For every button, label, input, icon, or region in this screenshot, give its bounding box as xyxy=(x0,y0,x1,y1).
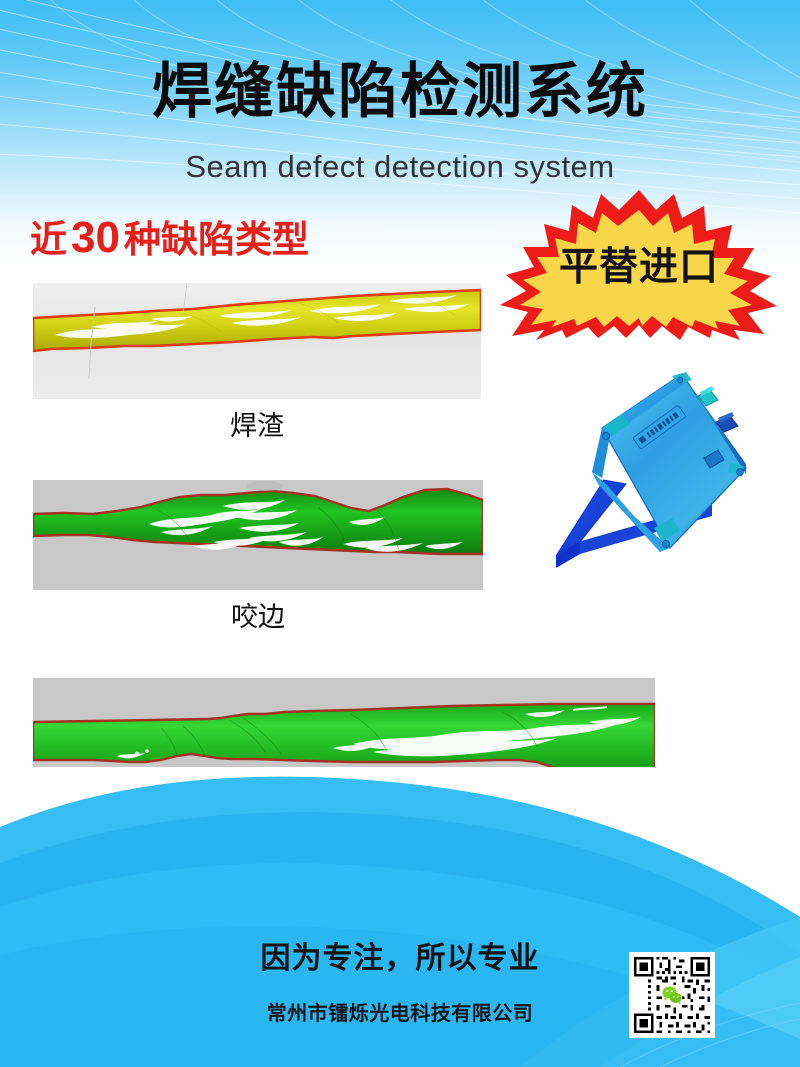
starburst-badge: 平替进口 xyxy=(496,188,782,340)
page-title: 焊缝缺陷检测系统 xyxy=(0,62,800,122)
defect-image-weld-slag xyxy=(33,283,481,399)
page-subtitle: Seam defect detection system xyxy=(0,148,800,185)
defect-caption-undercut: 咬边 xyxy=(33,604,483,631)
poster-canvas: 焊缝缺陷检测系统 Seam defect detection system 近3… xyxy=(0,0,800,1067)
feature-suffix: 种缺陷类型 xyxy=(124,219,309,260)
feature-number: 30 xyxy=(67,213,124,262)
feature-headline: 近30种缺陷类型 xyxy=(30,216,309,260)
defect-image-undercut xyxy=(33,480,483,590)
laser-scanner-device-image xyxy=(494,356,760,606)
feature-prefix: 近 xyxy=(30,219,67,260)
defect-caption-weld-slag: 焊渣 xyxy=(33,413,481,440)
defect-sample-undercut: 咬边 xyxy=(33,480,483,631)
badge-label: 平替进口 xyxy=(496,188,782,340)
wechat-qr-code[interactable] xyxy=(629,952,715,1038)
defect-sample-weld-slag: 焊渣 xyxy=(33,283,481,440)
